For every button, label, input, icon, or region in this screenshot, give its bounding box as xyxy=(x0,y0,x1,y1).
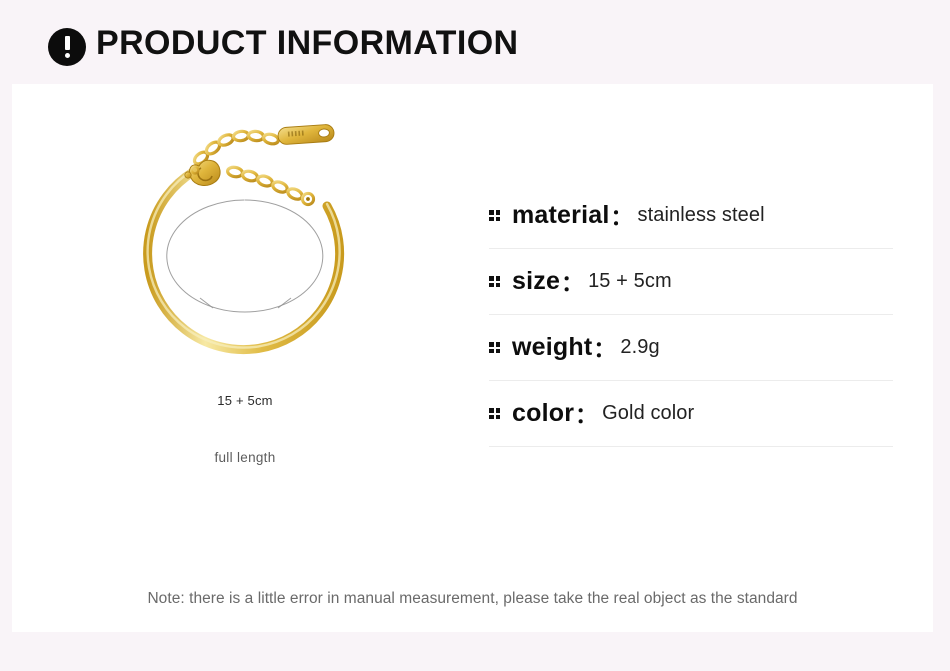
spec-value-size: 15 + 5cm xyxy=(588,270,672,293)
snake-chain-loop xyxy=(148,170,340,350)
size-overlay-label: 15 + 5cm xyxy=(95,393,395,408)
lobster-clasp xyxy=(189,160,220,185)
product-caption: full length xyxy=(95,450,395,465)
spec-row-size: size ： 15 + 5cm xyxy=(489,249,893,315)
spec-value-material: stainless steel xyxy=(638,204,765,227)
exclamation-circle-icon xyxy=(48,28,86,66)
spec-row-weight: weight ： 2.9g xyxy=(489,315,893,381)
square-grid-bullet-icon xyxy=(489,276,500,287)
spec-value-weight: 2.9g xyxy=(620,336,659,359)
specification-list: material ： stainless steel size ： 15 + 5… xyxy=(489,183,893,447)
square-grid-bullet-icon xyxy=(489,408,500,419)
square-grid-bullet-icon xyxy=(489,210,500,221)
spec-separator-weight: ： xyxy=(593,332,615,364)
measurement-note: Note: there is a little error in manual … xyxy=(12,590,933,608)
exclamation-stem xyxy=(65,36,70,50)
spec-separator-color: ： xyxy=(575,398,597,430)
jump-ring xyxy=(302,193,313,204)
square-grid-bullet-icon xyxy=(489,342,500,353)
spec-row-material: material ： stainless steel xyxy=(489,183,893,249)
brand-tag xyxy=(278,124,335,145)
spec-key-color: color xyxy=(512,399,574,428)
measurement-guide-ellipse xyxy=(167,200,323,312)
exclamation-dot xyxy=(65,53,70,58)
product-information-page: PRODUCT INFORMATION xyxy=(0,0,950,671)
spec-separator-size: ： xyxy=(561,266,583,298)
bracelet-illustration xyxy=(95,110,395,410)
spec-value-color: Gold color xyxy=(602,402,694,425)
spec-row-color: color ： Gold color xyxy=(489,381,893,447)
product-image: 15 + 5cm xyxy=(95,110,395,410)
band-end-connector xyxy=(185,172,191,178)
page-header: PRODUCT INFORMATION xyxy=(0,0,950,84)
spec-key-weight: weight xyxy=(512,333,592,362)
spec-key-material: material xyxy=(512,201,610,230)
spec-key-size: size xyxy=(512,267,560,296)
page-title: PRODUCT INFORMATION xyxy=(96,24,519,63)
spec-separator-material: ： xyxy=(611,200,633,232)
